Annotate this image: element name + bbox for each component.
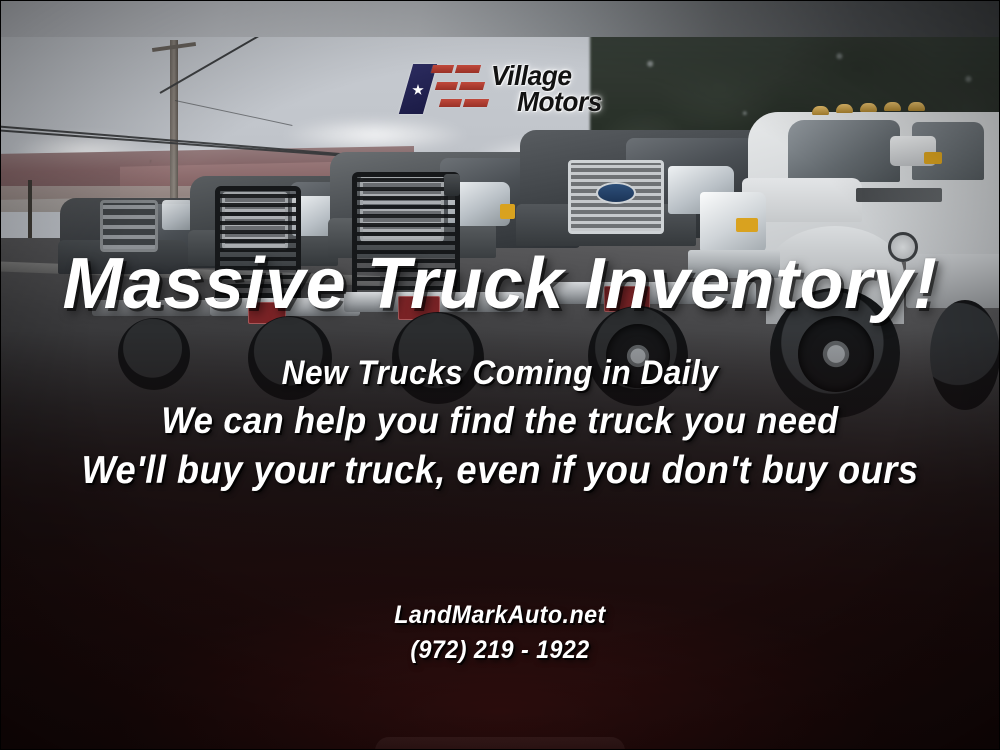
- flag-stripe: [459, 82, 485, 90]
- overlay-content: Village Motors Massive Truck Inventory! …: [0, 0, 1000, 750]
- flag-stripe: [431, 65, 454, 73]
- flag-stripe: [439, 99, 462, 107]
- flag-stripe: [435, 82, 458, 90]
- texas-flag-stripes-icon: [406, 62, 484, 116]
- headline: Massive Truck Inventory!: [0, 248, 1000, 320]
- promo-banner: Village Motors Massive Truck Inventory! …: [0, 0, 1000, 750]
- logo-word-motors: Motors: [517, 89, 602, 115]
- website-url[interactable]: LandMarkAuto.net: [35, 601, 965, 630]
- subheadline-3: We'll buy your truck, even if you don't …: [35, 449, 965, 493]
- phone-number[interactable]: (972) 219 - 1922: [35, 636, 965, 665]
- subheadline-1: New Trucks Coming in Daily: [35, 354, 965, 393]
- flag-stripe: [455, 65, 481, 73]
- flag-stripe: [463, 99, 489, 107]
- logo-wordmark: Village Motors: [491, 63, 607, 115]
- subheadline-2: We can help you find the truck you need: [35, 400, 965, 442]
- village-motors-logo[interactable]: Village Motors: [406, 62, 607, 116]
